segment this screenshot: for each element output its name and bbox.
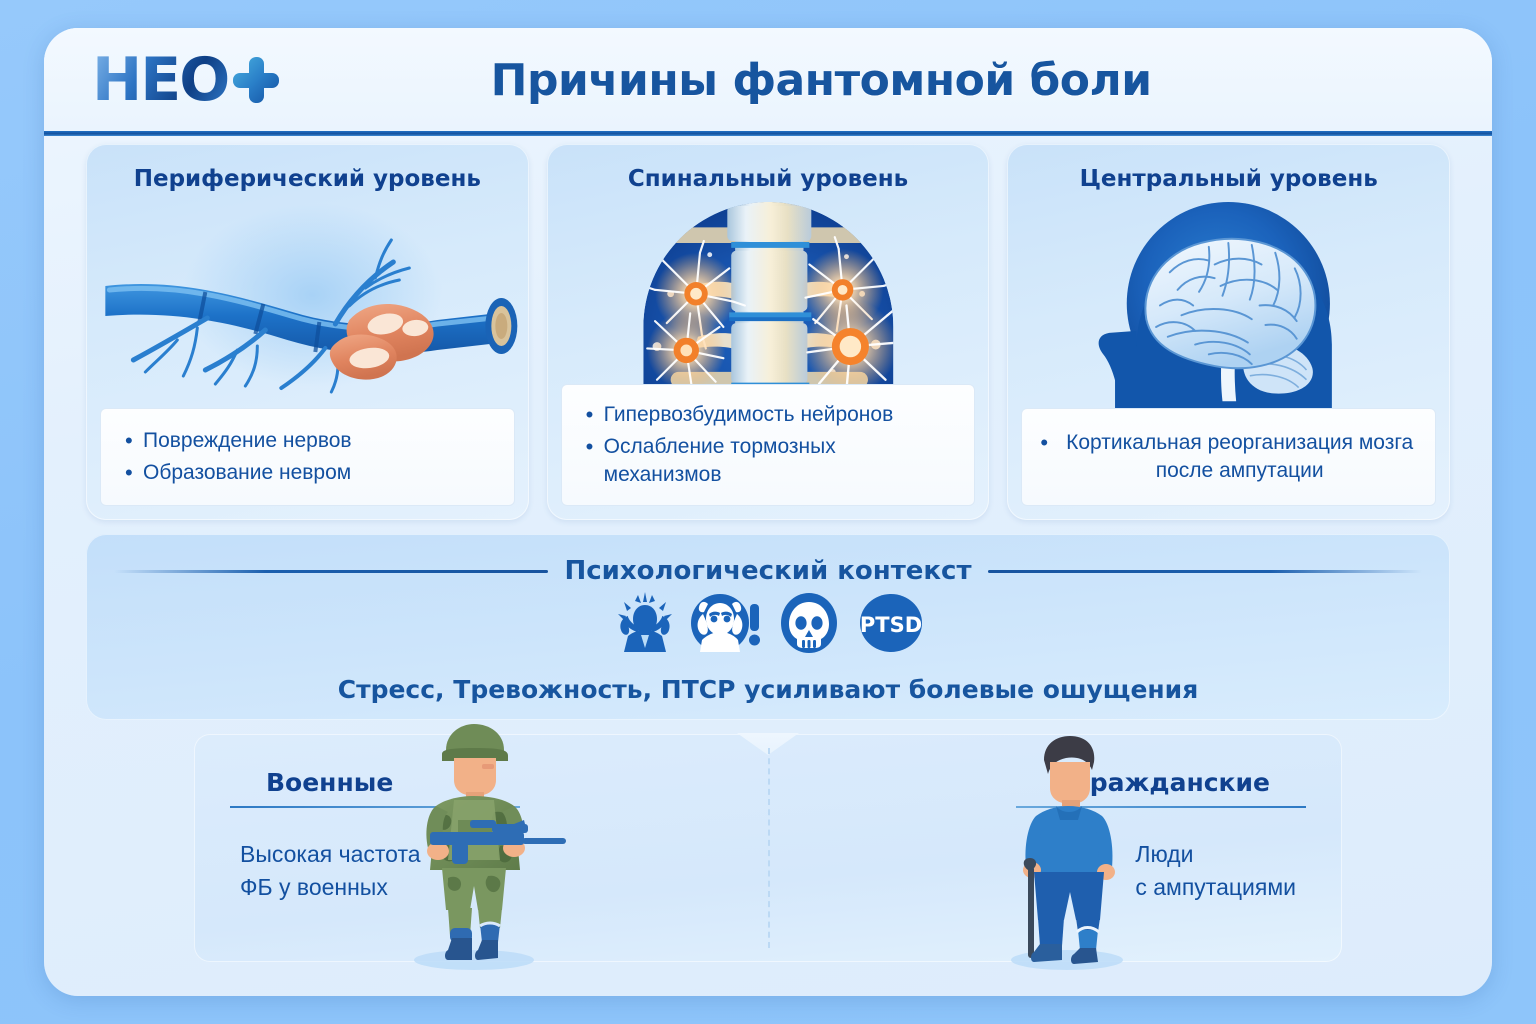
header-divider (44, 131, 1492, 136)
card-title: Периферический уровень (86, 166, 529, 192)
card-bullets: Гипервозбудимость нейронов Ослабление то… (561, 384, 976, 506)
card-spinal-level[interactable]: Спинальный уровень (547, 144, 990, 520)
ptsd-label: PTSD (860, 613, 922, 637)
bullet-item: Гипервозбудимость нейронов (584, 401, 959, 429)
card-bullets: Кортикальная реорганизация мозга после а… (1021, 408, 1436, 506)
population-comparison-panel: Военные Высокая частота ФБ у военных (194, 734, 1342, 962)
psychological-icon-row: PTSD (86, 592, 1450, 654)
psychological-context-caption: Стресс, Тревожность, ПТСР усиливают боле… (86, 675, 1450, 704)
card-bullets: Повреждение нервов Образование невром (100, 408, 515, 506)
brain-head-icon (1007, 200, 1450, 410)
psychological-context-heading: Психологический контекст (86, 556, 1450, 586)
ptsd-badge-icon: PTSD (854, 592, 928, 654)
bullet-item: Ослабление тормозных механизмов (584, 433, 959, 489)
civilian-description: Люди с ампутациями (1135, 838, 1296, 903)
card-peripheral-level[interactable]: Периферический уровень (86, 144, 529, 520)
card-title: Спинальный уровень (547, 166, 990, 192)
anxiety-person-icon (690, 592, 764, 654)
civilian-desc-line1: Люди (1135, 838, 1296, 871)
header: НЕО Причины фантомной боли (44, 28, 1492, 132)
civilian-panel[interactable]: Гражданские Люди с ампутациями (768, 734, 1342, 962)
bullet-item: Кортикальная реорганизация мозга после а… (1038, 429, 1419, 485)
psychological-context-title: Психологический контекст (564, 556, 971, 586)
bullet-item: Повреждение нервов (123, 427, 498, 455)
military-panel[interactable]: Военные Высокая частота ФБ у военных (194, 734, 768, 962)
infographic-board: НЕО Причины фантомной боли Периферически… (44, 28, 1492, 996)
card-title: Центральный уровень (1007, 166, 1450, 192)
card-central-level[interactable]: Центральный уровень (1007, 144, 1450, 520)
plus-icon (232, 56, 280, 104)
soldier-with-prosthesis-icon (374, 720, 574, 970)
brand-logo: НЕО (92, 49, 280, 111)
skull-icon (772, 592, 846, 654)
civilian-with-prosthesis-icon (982, 734, 1152, 970)
levels-card-row: Периферический уровень (86, 144, 1450, 520)
stress-person-icon (608, 592, 682, 654)
page-title: Причины фантомной боли (280, 55, 1362, 106)
psychological-context-panel: Психологический контекст (86, 534, 1450, 720)
civilian-desc-line2: с ампутациями (1135, 871, 1296, 904)
logo-text: НЕО (92, 50, 228, 110)
heading-rule-left (114, 570, 548, 573)
spine-neurons-icon (547, 200, 990, 410)
heading-rule-right (988, 570, 1422, 573)
nerve-damage-icon (86, 200, 529, 410)
bullet-item: Образование невром (123, 459, 498, 487)
